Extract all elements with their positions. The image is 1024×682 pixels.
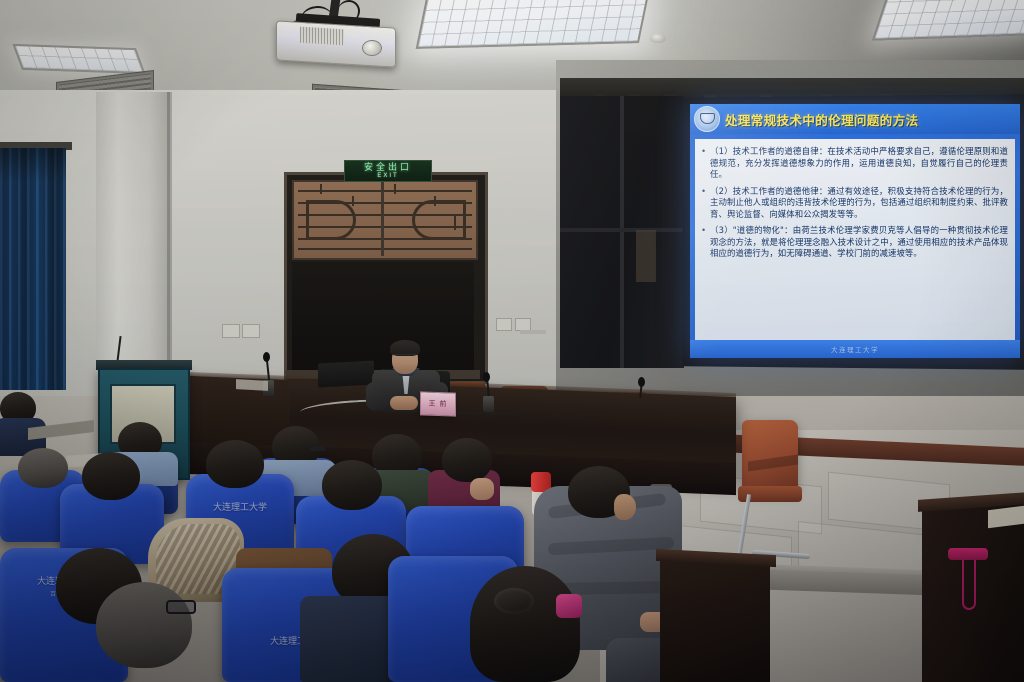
slide-title-bar: 处理常规技术中的伦理问题的方法 xyxy=(690,104,1020,134)
slide-footer-text: 大连理工大学 xyxy=(831,344,879,354)
attendee-glasses-icon xyxy=(166,600,196,614)
presenter-glasses-icon xyxy=(394,354,416,360)
slide-title: 处理常规技术中的伦理问题的方法 xyxy=(725,110,919,129)
slide-body: • （1）技术工作者的道德自律：在技术活动中严格要求自己，遵循伦理原则和道德规范… xyxy=(695,139,1015,340)
fluorescent-ceiling-light xyxy=(12,44,145,74)
attendee-head xyxy=(96,582,192,668)
wall-power-socket[interactable] xyxy=(222,324,240,338)
wall-pillar xyxy=(96,92,170,392)
lecture-hall-photo: 安全出口 EXIT 处理常规技术中的伦理问题的方法 • （1）技术工作者的道德自… xyxy=(0,0,1024,682)
chair-embroidery: 大连理工大学 xyxy=(213,502,267,512)
attendee-head xyxy=(322,460,382,510)
speaker-nameplate: 王 前 xyxy=(420,391,456,416)
wall-power-socket[interactable] xyxy=(242,324,260,338)
bullet-marker: • xyxy=(702,146,710,181)
attendee-head xyxy=(442,438,492,482)
hair-bow xyxy=(494,588,534,614)
presenter-arm xyxy=(366,382,388,410)
pink-bag xyxy=(948,548,988,560)
attendee-head xyxy=(82,452,140,500)
smoke-detector-icon xyxy=(650,34,666,43)
fluorescent-ceiling-light xyxy=(872,0,1024,41)
attendee-bow-hair xyxy=(470,566,580,682)
slide-footer: 大连理工大学 xyxy=(690,340,1020,358)
projector-lens-icon xyxy=(362,40,382,56)
bullet-text: （2）技术工作者的道德他律：通过有效途径，积极支持符合技术伦理的行为，主动制止他… xyxy=(710,186,1008,221)
pink-phone-case xyxy=(556,594,582,618)
lattice-divider xyxy=(381,180,384,256)
slide-bullet: • （3）"道德的物化"：由荷兰技术伦理学家费贝克等人倡导的一种贯彻技术伦理观念… xyxy=(702,225,1008,260)
attendee-ear xyxy=(614,494,636,520)
bullet-marker: • xyxy=(702,225,710,260)
dut-university-logo-icon xyxy=(694,106,720,132)
blue-window-curtain xyxy=(0,148,66,390)
nameplate-char-2: 前 xyxy=(440,399,448,409)
attendee-head xyxy=(206,440,264,488)
recess-highlight xyxy=(636,230,656,282)
wall-power-socket[interactable] xyxy=(496,318,512,331)
attendee-glasses-icon xyxy=(310,446,326,451)
curtain-shadow xyxy=(0,148,66,182)
microphone-head-icon xyxy=(263,352,270,362)
exit-sign-english: EXIT xyxy=(377,173,398,179)
recess-divider xyxy=(560,228,684,232)
laptop[interactable] xyxy=(318,361,374,388)
microphone-head-icon xyxy=(483,372,490,382)
slide-bullet: • （1）技术工作者的道德自律：在技术活动中严格要求自己，遵循伦理原则和道德规范… xyxy=(702,146,1008,181)
pink-bag-strap xyxy=(962,556,976,610)
bullet-text: （3）"道德的物化"：由荷兰技术伦理学家费贝克等人倡导的一种贯彻技术伦理观念的方… xyxy=(710,225,1008,260)
decorative-wooden-lattice-panel xyxy=(292,180,478,260)
microphone-head-icon xyxy=(638,377,645,387)
attendee-face xyxy=(470,478,494,500)
presentation-slide: 处理常规技术中的伦理问题的方法 • （1）技术工作者的道德自律：在技术活动中严格… xyxy=(690,104,1020,358)
audience-desk xyxy=(660,560,770,682)
back-door[interactable] xyxy=(292,262,474,374)
exit-sign-chinese: 安全出口 xyxy=(364,163,412,172)
bullet-text: （1）技术工作者的道德自律：在技术活动中严格要求自己，遵循伦理原则和道德规范，充… xyxy=(710,146,1008,181)
papers-on-table xyxy=(236,379,268,391)
wall-pillar-edge xyxy=(167,92,172,392)
projection-screen: 处理常规技术中的伦理问题的方法 • （1）技术工作者的道德自律：在技术活动中严格… xyxy=(690,104,1020,358)
nameplate-char-1: 王 xyxy=(429,399,437,409)
slide-bullet: • （2）技术工作者的道德他律：通过有效途径，积极支持符合技术伦理的行为，主动制… xyxy=(702,186,1008,221)
wall-cable-trunking xyxy=(520,330,546,334)
fluorescent-ceiling-light xyxy=(416,0,651,49)
attendee-head xyxy=(18,448,68,488)
projector-vent xyxy=(300,27,344,46)
exit-sign: 安全出口 EXIT xyxy=(344,160,432,182)
recess-divider xyxy=(620,96,624,368)
bullet-marker: • xyxy=(702,186,710,221)
presenter-hands xyxy=(390,396,418,410)
